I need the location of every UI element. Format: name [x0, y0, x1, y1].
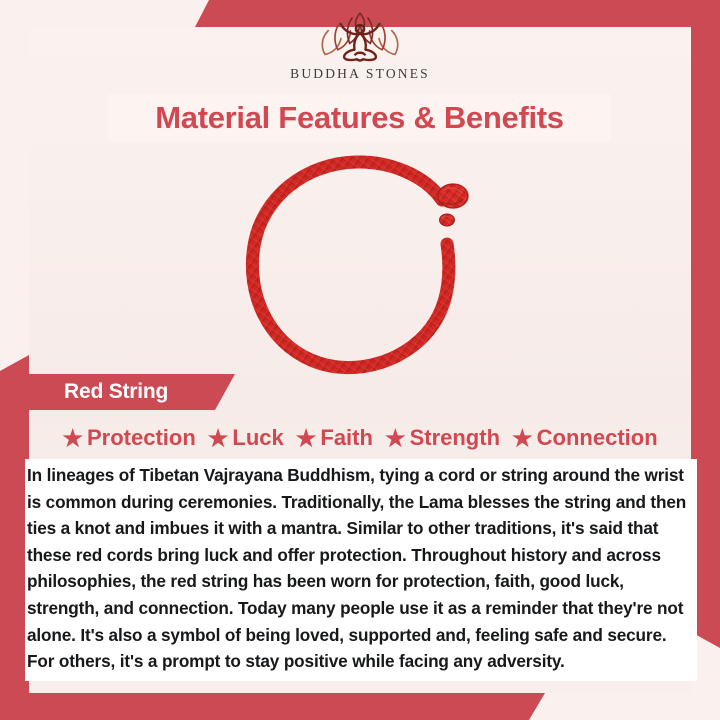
benefit-label: Luck: [232, 425, 283, 451]
material-label: Red String: [64, 380, 168, 404]
star-icon: ★: [385, 427, 406, 450]
star-icon: ★: [62, 427, 83, 450]
product-image: [0, 150, 720, 380]
benefit-label: Faith: [320, 425, 373, 451]
description-text: In lineages of Tibetan Vajrayana Buddhis…: [27, 462, 691, 675]
decor-bar-bottom-left: [0, 693, 545, 720]
star-icon: ★: [296, 427, 317, 450]
brand-logo: BUDDHA STONES: [0, 10, 720, 94]
benefit-item-luck: ★ Luck: [202, 425, 290, 451]
benefit-label: Protection: [87, 425, 196, 451]
brand-name: BUDDHA STONES: [290, 66, 430, 82]
material-label-banner: Red String: [29, 374, 235, 410]
lotus-meditation-icon: [304, 10, 416, 64]
benefit-item-strength: ★ Strength: [379, 425, 506, 451]
page-title: Material Features & Benefits: [155, 100, 564, 136]
poster-canvas: BUDDHA STONES Material Features & Benefi…: [0, 0, 720, 720]
star-icon: ★: [208, 427, 229, 450]
benefit-item-protection: ★ Protection: [56, 425, 201, 451]
benefit-item-faith: ★ Faith: [290, 425, 379, 451]
benefit-label: Strength: [410, 425, 500, 451]
star-icon: ★: [512, 427, 533, 450]
benefit-item-connection: ★ Connection: [506, 425, 664, 451]
page-title-banner: Material Features & Benefits: [108, 94, 611, 142]
benefits-row: ★ Protection ★ Luck ★ Faith ★ Strength ★…: [29, 421, 691, 455]
benefit-label: Connection: [537, 425, 658, 451]
description-block: In lineages of Tibetan Vajrayana Buddhis…: [25, 459, 697, 681]
red-braided-bracelet-icon: [229, 152, 491, 378]
